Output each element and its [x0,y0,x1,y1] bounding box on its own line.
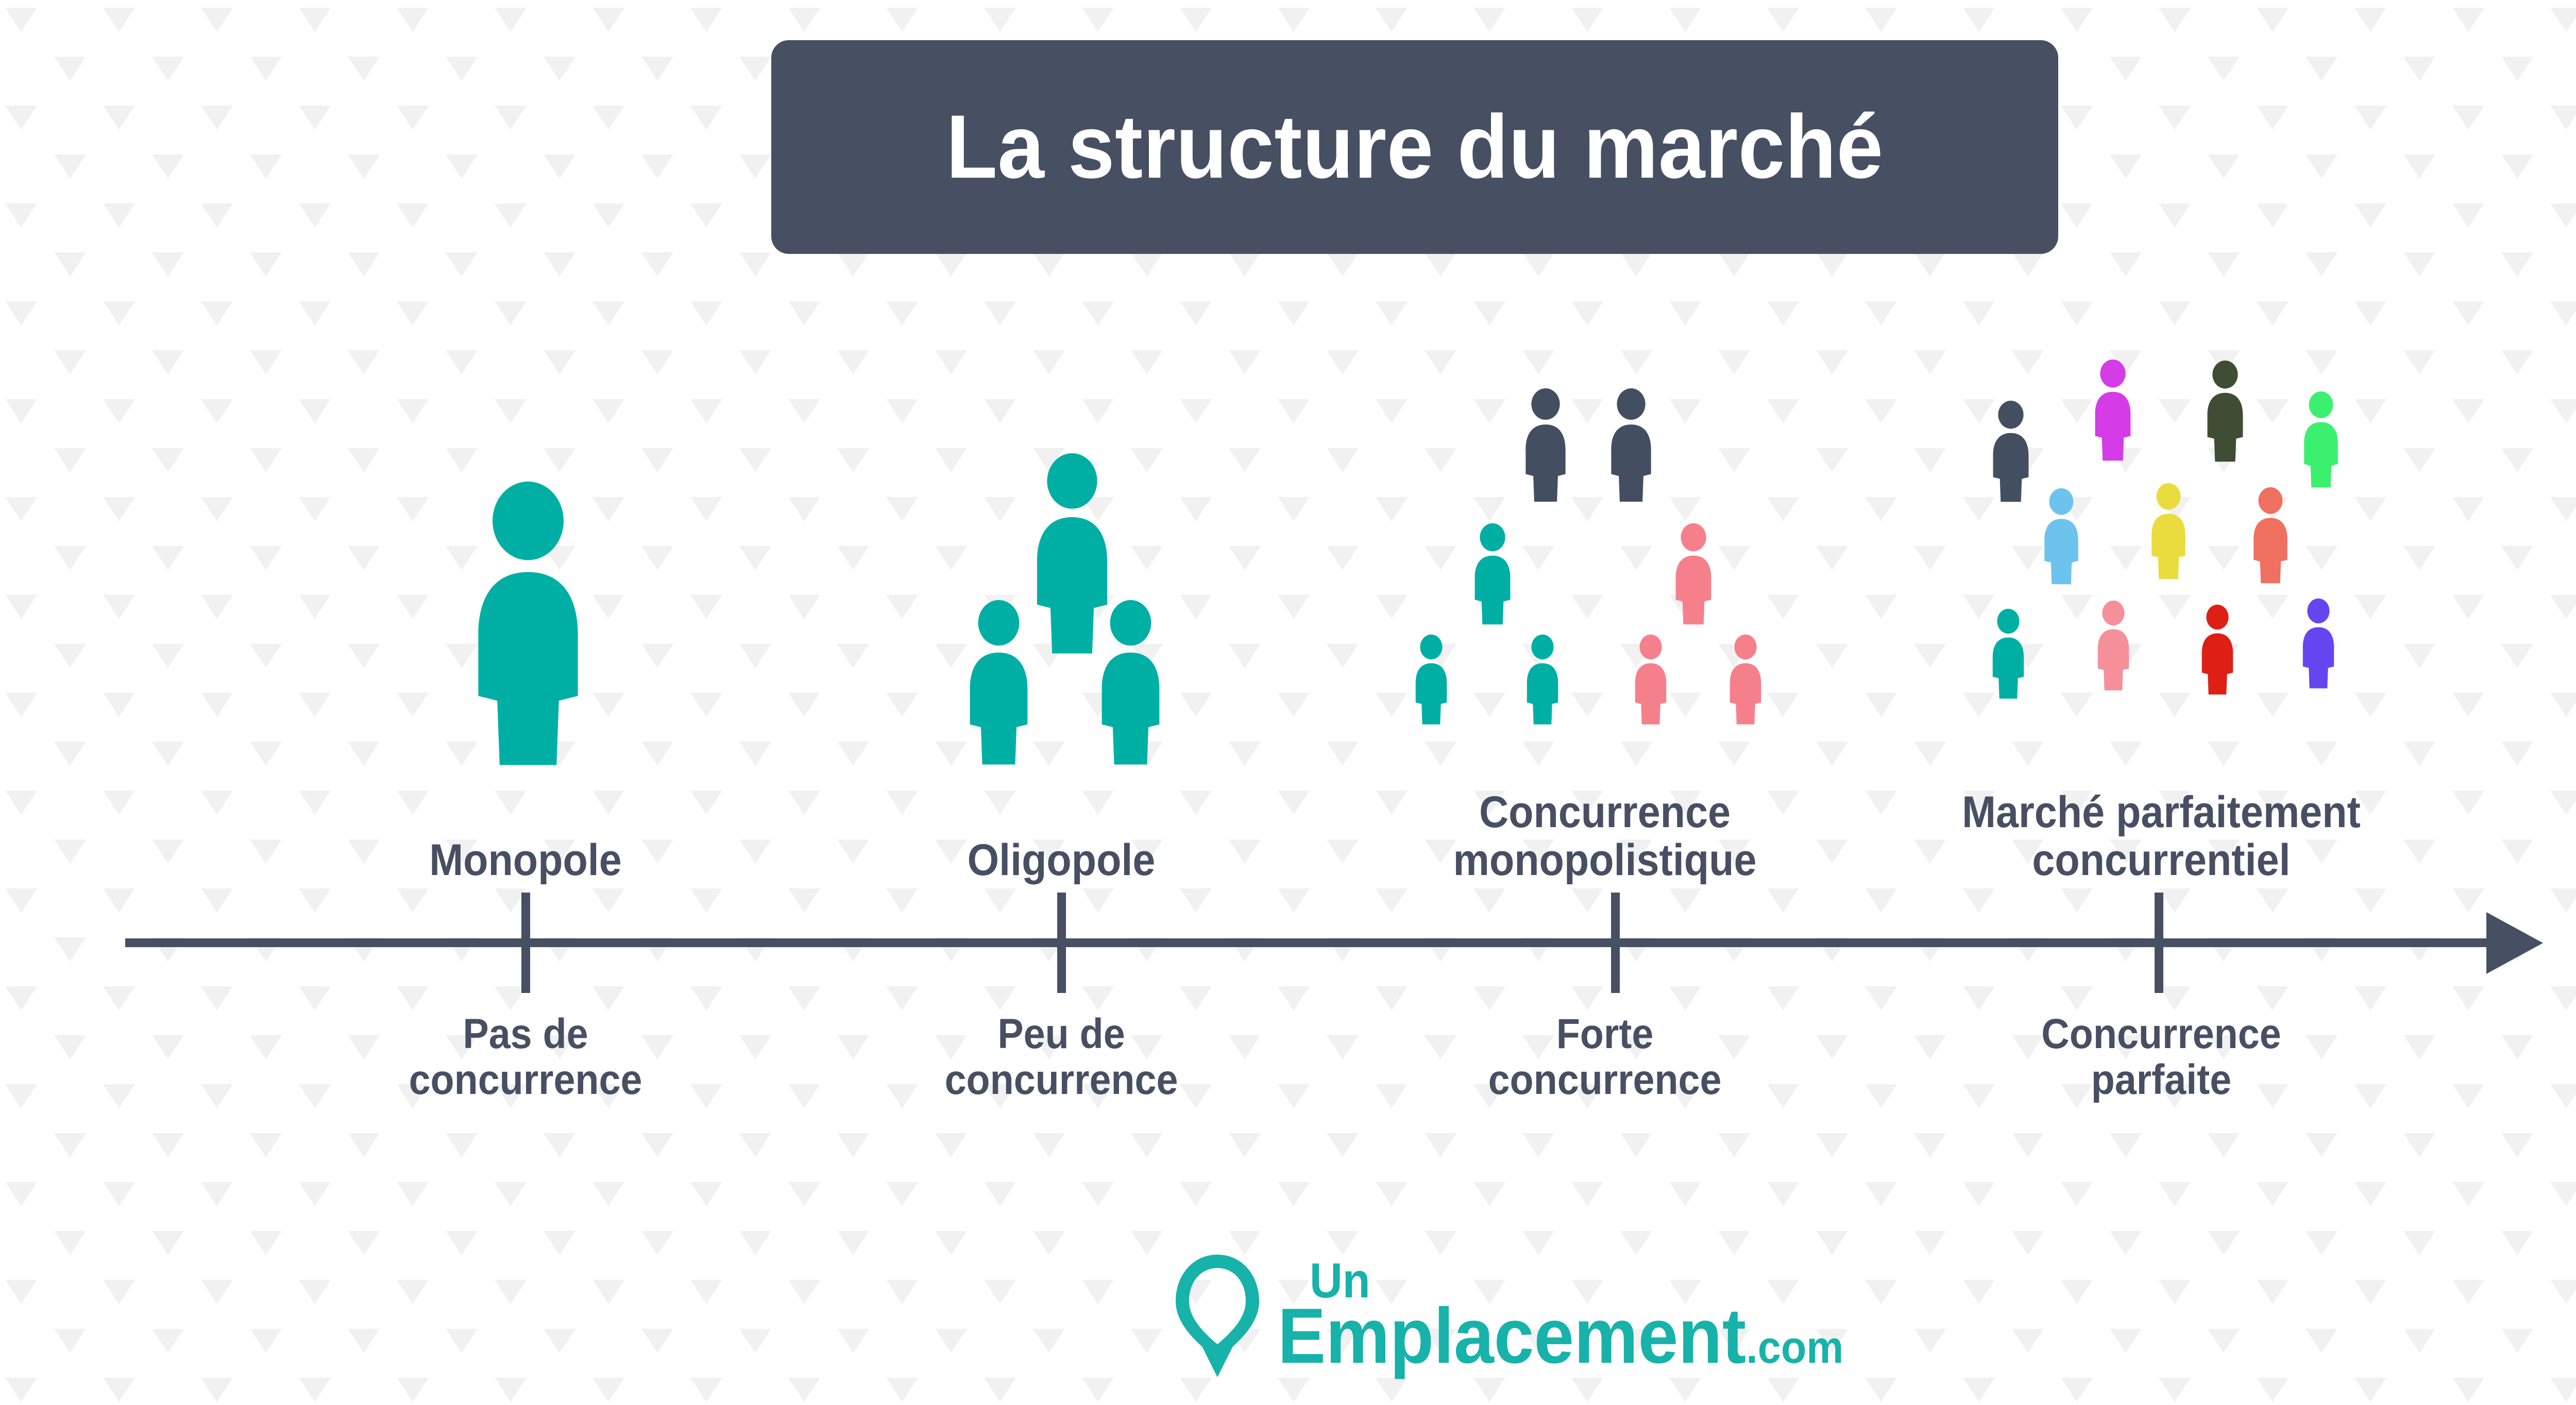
axis-tick-monopole [521,893,530,993]
person-icon [2148,483,2189,580]
person-icon [2300,598,2337,689]
person-icon [1672,523,1715,625]
person-icon [2092,359,2134,461]
page-title: La structure du marché [946,102,1883,192]
person-icon [1727,635,1764,725]
person-icon [2204,361,2246,462]
map-pin-icon [1168,1250,1266,1379]
person-icon [1522,388,1569,503]
stage-label-concurrence-monopolistique: Concurrence monopolistique [1344,789,1866,884]
person-icon [2301,391,2341,488]
axis-tick-oligopole [1057,893,1066,993]
stage-label-monopole: Monopole [265,836,786,884]
stage-sublabel-marche-parfaitement-concurrentiel: Concurrence parfaite [1901,1012,2422,1103]
person-icon [2095,601,2132,691]
logo-tld-text: .com [1746,1328,1843,1367]
logo-wordmark: Un Emplacement .com [1278,1260,1893,1369]
person-icon [1632,635,1669,725]
title-banner: La structure du marché [771,40,2058,254]
person-icon [1607,388,1655,503]
brand-logo[interactable]: Un Emplacement .com [1168,1245,1849,1384]
person-icon [1524,635,1561,725]
person-icon [1413,635,1450,725]
person-icon [2041,488,2081,585]
person-icon [2250,487,2291,584]
person-icon [964,600,1033,766]
stage-sublabel-oligopole: Peu de concurrence [801,1012,1322,1103]
logo-emplacement-text: Emplacement [1278,1303,1746,1370]
logo-line-emplacement: Emplacement .com [1278,1303,1843,1370]
stage-sublabel-concurrence-monopolistique: Forte concurrence [1344,1012,1866,1103]
person-icon [1096,600,1165,766]
stage-label-marche-parfaitement-concurrentiel: Marché parfaitement concurrentiel [1901,789,2422,884]
person-icon [2199,605,2236,695]
person-icon [1990,401,2032,503]
person-icon [1471,523,1514,625]
person-icon [1990,609,2027,699]
axis-tick-marche-parfaitement-concurrentiel [2155,893,2163,993]
person-icon [469,482,587,767]
stage-sublabel-monopole: Pas de concurrence [265,1012,786,1103]
stage-label-oligopole: Oligopole [801,836,1322,884]
arrow-right-icon [2486,912,2543,974]
infographic-canvas: La structure du marché Degré de concurre… [0,0,2576,1405]
axis-caption: Degré de concurrence [2568,895,2576,986]
axis-tick-concurrence-monopolistique [1611,893,1620,993]
